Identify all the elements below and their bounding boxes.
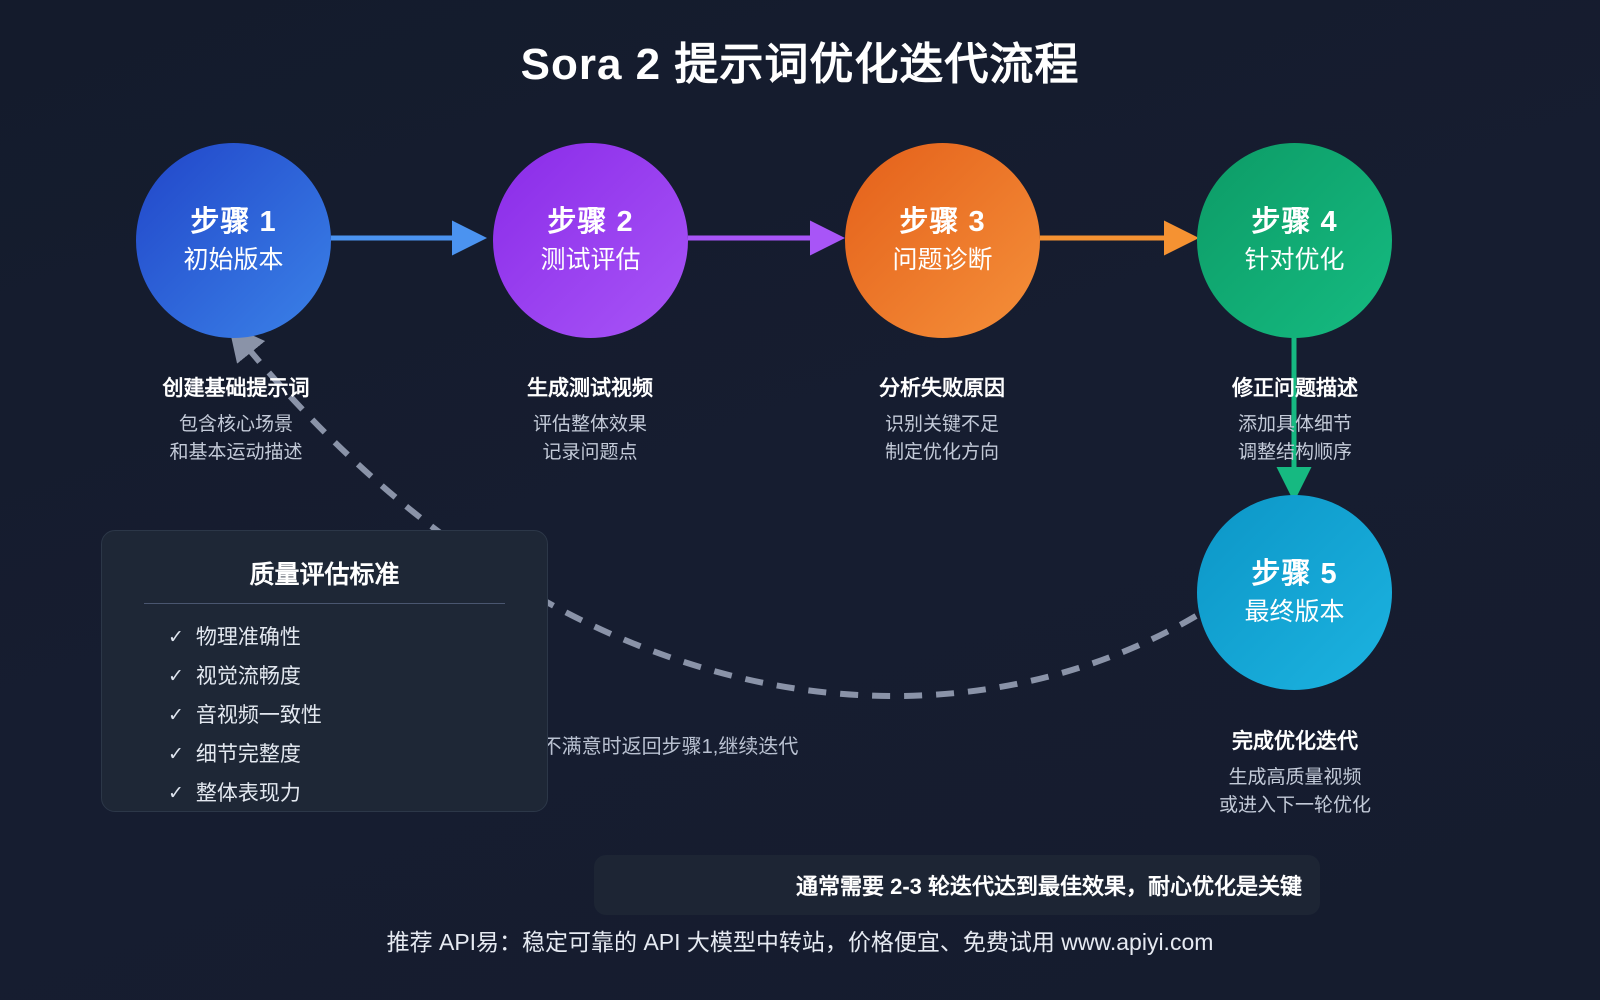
node-step-1-subtitle: 初始版本 (183, 245, 283, 275)
list-item: ✓ 细节完整度 (136, 735, 513, 774)
node-step-3[interactable]: 步骤 3 问题诊断 (845, 143, 1040, 338)
caption-step-3-line-2: 制定优化方向 (792, 439, 1092, 467)
caption-step-3-head: 分析失败原因 (792, 372, 1092, 402)
node-step-1-title: 步骤 1 (190, 206, 276, 239)
diagram-canvas: Sora 2 提示词优化迭代流程 (0, 0, 1600, 1000)
caption-step-5: 完成优化迭代 生成高质量视频 或进入下一轮优化 (1145, 725, 1445, 819)
caption-step-4: 修正问题描述 添加具体细节 调整结构顺序 (1145, 372, 1445, 466)
caption-step-3-line-1: 识别关键不足 (792, 411, 1092, 439)
caption-step-5-line-2: 或进入下一轮优化 (1145, 792, 1445, 820)
caption-step-1: 创建基础提示词 包含核心场景 和基本运动描述 (86, 372, 386, 466)
node-step-5[interactable]: 步骤 5 最终版本 (1197, 495, 1392, 690)
caption-step-3: 分析失败原因 识别关键不足 制定优化方向 (792, 372, 1092, 466)
node-step-4-title: 步骤 4 (1251, 206, 1337, 239)
node-step-1[interactable]: 步骤 1 初始版本 (136, 143, 331, 338)
tip-text: 通常需要 2-3 轮迭代达到最佳效果，耐心优化是关键 (796, 869, 1302, 901)
caption-step-4-line-1: 添加具体细节 (1145, 411, 1445, 439)
caption-step-2-head: 生成测试视频 (440, 372, 740, 402)
node-step-2[interactable]: 步骤 2 测试评估 (493, 143, 688, 338)
tip-banner: 通常需要 2-3 轮迭代达到最佳效果，耐心优化是关键 (594, 855, 1320, 915)
node-step-2-title: 步骤 2 (547, 206, 633, 239)
node-step-5-subtitle: 最终版本 (1244, 597, 1344, 627)
list-item-label: 整体表现力 (196, 783, 301, 804)
node-step-2-subtitle: 测试评估 (540, 245, 640, 275)
quality-criteria-title: 质量评估标准 (136, 555, 513, 591)
caption-step-2: 生成测试视频 评估整体效果 记录问题点 (440, 372, 740, 466)
node-step-5-title: 步骤 5 (1251, 558, 1337, 591)
check-icon: ✓ (168, 784, 184, 803)
list-item: ✓ 音视频一致性 (136, 696, 513, 735)
node-step-4-subtitle: 针对优化 (1244, 245, 1344, 275)
footer-note: 推荐 API易：稳定可靠的 API 大模型中转站，价格便宜、免费试用 www.a… (0, 923, 1600, 957)
node-step-3-subtitle: 问题诊断 (892, 245, 992, 275)
list-item: ✓ 视觉流畅度 (136, 657, 513, 696)
caption-step-4-head: 修正问题描述 (1145, 372, 1445, 402)
node-step-3-title: 步骤 3 (899, 206, 985, 239)
caption-step-4-line-2: 调整结构顺序 (1145, 439, 1445, 467)
list-item: ✓ 整体表现力 (136, 774, 513, 813)
caption-step-1-line-1: 包含核心场景 (86, 411, 386, 439)
caption-step-1-head: 创建基础提示词 (86, 372, 386, 402)
list-item-label: 视觉流畅度 (196, 666, 301, 687)
check-icon: ✓ (168, 745, 184, 764)
list-item-label: 细节完整度 (196, 744, 301, 765)
card-divider (144, 603, 505, 604)
list-item-label: 音视频一致性 (196, 705, 322, 726)
caption-step-2-line-2: 记录问题点 (440, 439, 740, 467)
quality-criteria-list: ✓ 物理准确性 ✓ 视觉流畅度 ✓ 音视频一致性 ✓ 细节完整度 ✓ 整体表现力 (136, 618, 513, 813)
caption-step-5-line-1: 生成高质量视频 (1145, 764, 1445, 792)
list-item: ✓ 物理准确性 (136, 618, 513, 657)
check-icon: ✓ (168, 628, 184, 647)
caption-step-2-line-1: 评估整体效果 (440, 411, 740, 439)
caption-step-5-head: 完成优化迭代 (1145, 725, 1445, 755)
list-item-label: 物理准确性 (196, 627, 301, 648)
caption-step-1-line-2: 和基本运动描述 (86, 439, 386, 467)
check-icon: ✓ (168, 667, 184, 686)
node-step-4[interactable]: 步骤 4 针对优化 (1197, 143, 1392, 338)
check-icon: ✓ (168, 706, 184, 725)
quality-criteria-card: 质量评估标准 ✓ 物理准确性 ✓ 视觉流畅度 ✓ 音视频一致性 ✓ 细节完整度 … (101, 530, 548, 812)
